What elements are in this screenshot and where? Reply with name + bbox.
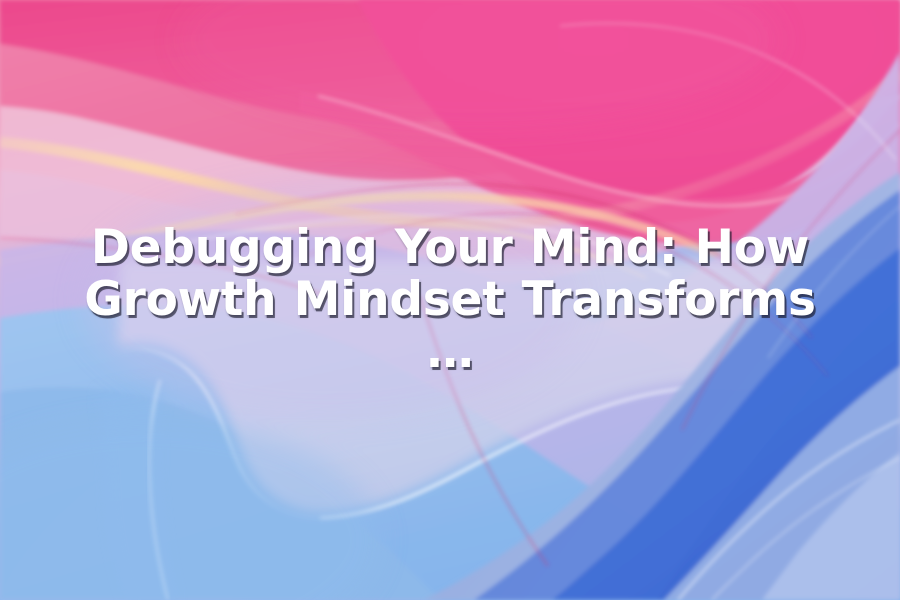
abstract-gradient-artwork <box>0 0 900 600</box>
hero-banner: Debugging Your Mind: How Growth Mindset … <box>0 0 900 600</box>
glow-lavender-center <box>80 180 580 420</box>
